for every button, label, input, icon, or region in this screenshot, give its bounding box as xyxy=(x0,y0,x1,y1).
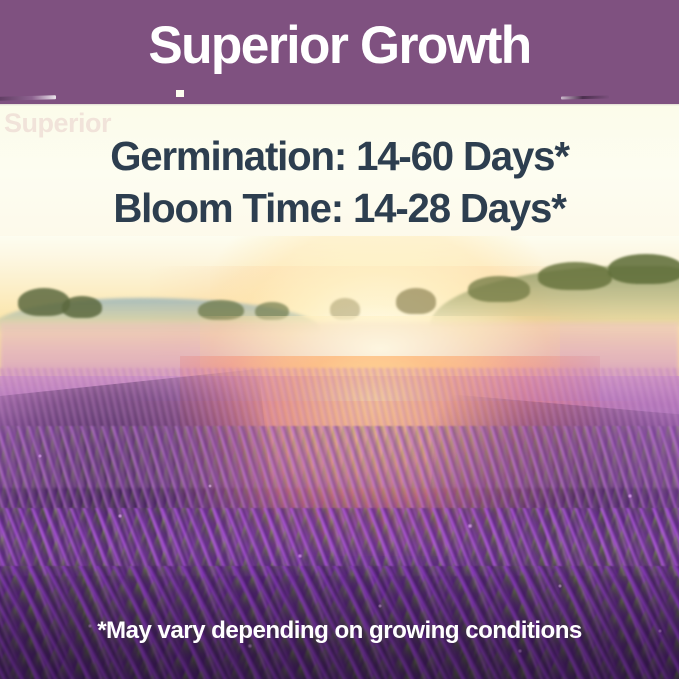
spec-text-block: Germination: 14-60 Days* Bloom Time: 14-… xyxy=(0,130,679,234)
tree-cluster xyxy=(468,276,530,302)
tree-cluster xyxy=(62,296,102,318)
header-banner: Superior Growth xyxy=(0,0,679,104)
spec-line-germination: Germination: 14-60 Days* xyxy=(7,130,672,182)
tree-cluster xyxy=(608,254,679,284)
tree-cluster xyxy=(396,288,436,314)
spec-line-bloom-time: Bloom Time: 14-28 Days* xyxy=(7,182,672,234)
tree-cluster xyxy=(538,262,612,290)
superior-growth-infographic: Superior Germination: 14-60 Days* Bloom … xyxy=(0,0,679,679)
bottom-vignette xyxy=(0,546,679,679)
banner-edge-nick xyxy=(176,90,184,97)
lavender-field-photo xyxy=(0,236,679,679)
page-title: Superior Growth xyxy=(10,16,669,76)
footnote-disclaimer: *May vary depending on growing condition… xyxy=(5,616,674,646)
